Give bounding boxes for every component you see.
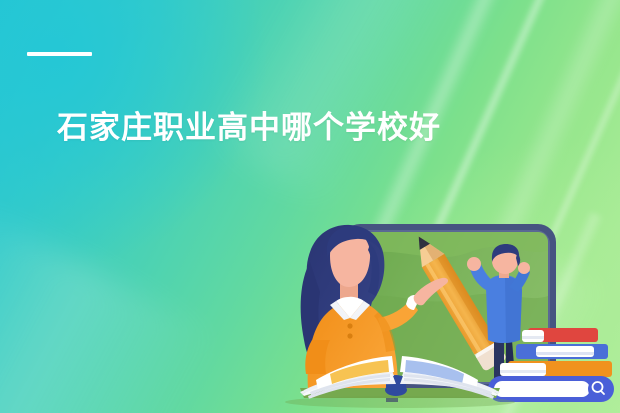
promotional-banner: 石家庄职业高中哪个学校好 (0, 0, 620, 413)
book-blue (516, 344, 608, 359)
search-input[interactable] (494, 381, 590, 397)
search-bar[interactable] (488, 376, 614, 402)
book-red (522, 328, 598, 342)
desk-shadow (285, 396, 515, 408)
education-illustration (0, 0, 620, 413)
book-orange (500, 361, 612, 377)
